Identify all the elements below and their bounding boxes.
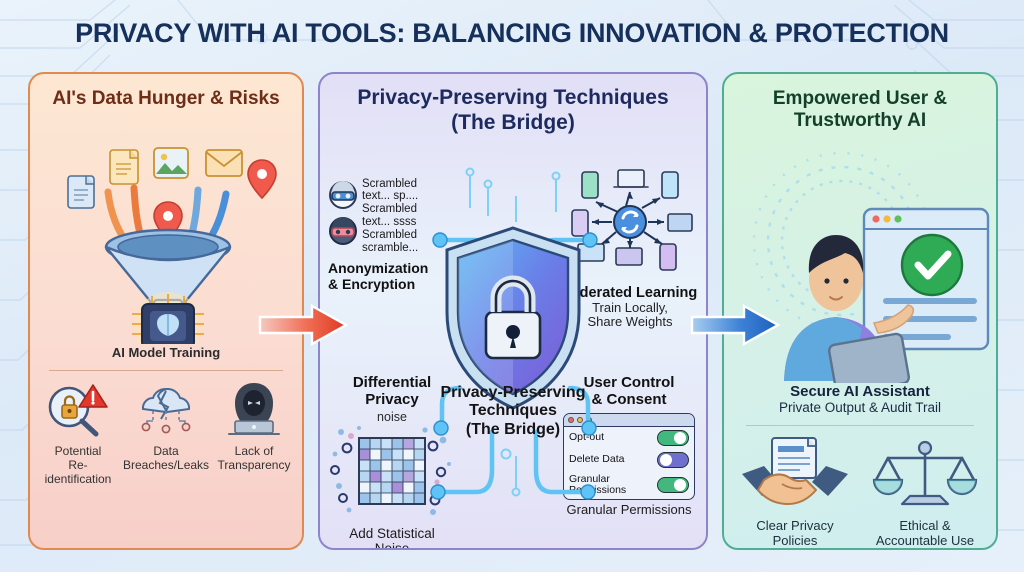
risk-item-data-breaches: Data Breaches/Leaks (123, 379, 209, 473)
bridge-center-label: Privacy-Preserving Techniques (The Bridg… (413, 384, 613, 440)
outcome-privacy-policies: Clear Privacy Policies & Compliance (736, 436, 854, 550)
risk-label-line1: Data (153, 444, 178, 458)
risk-label-line2: Re-identification (45, 458, 112, 486)
document-icon (68, 176, 94, 208)
risk-list: Potential Re-identification Data (30, 379, 302, 486)
assistant-title: Secure AI Assistant (724, 383, 996, 400)
circuit-trace-network (320, 136, 706, 546)
outcome-label-line2: Accountable Use (876, 533, 974, 548)
trust-divider (746, 425, 974, 426)
panel-privacy-techniques: Privacy-Preserving Techniques (The Bridg… (318, 72, 708, 550)
ai-chip-icon (132, 292, 204, 344)
risk-item-reidentification: Potential Re-identification (35, 379, 121, 486)
arrow-middle-to-right (690, 300, 782, 350)
document-icon (110, 150, 138, 184)
outcome-label-line1: Clear Privacy Policies (756, 518, 833, 548)
magnifier-lock-warning-icon (35, 379, 121, 437)
broken-cloud-icon (123, 379, 209, 437)
arrow-left-to-middle (258, 300, 350, 350)
risk-label-line1: Potential (55, 444, 102, 458)
assistant-subtitle: Private Output & Audit Trail (724, 400, 996, 416)
right-panel-title: Empowered User & Trustworthy AI (724, 88, 996, 133)
page-title: PRIVACY WITH AI TOOLS: BALANCING INNOVAT… (0, 18, 1024, 49)
risk-label-line1: Lack of (235, 444, 274, 458)
risk-item-lack-transparency: Lack of Transparency (211, 379, 297, 473)
outcome-ethical-use: Ethical & Accountable Use (866, 436, 984, 550)
scales-of-justice-icon (866, 436, 984, 510)
envelope-icon (206, 150, 242, 176)
risk-label-line2: Breaches/Leaks (123, 458, 209, 472)
green-check-icon (902, 235, 962, 295)
hacker-icon (211, 379, 297, 437)
image-icon (154, 148, 188, 178)
risk-label-line2: Transparency (218, 458, 291, 472)
location-pin-icon (248, 160, 276, 198)
trust-outcomes-list: Clear Privacy Policies & Compliance Ethi… (724, 436, 996, 550)
shield-padlock-icon (447, 228, 579, 408)
outcome-label-line2: & Compliance (755, 548, 836, 550)
handshake-document-icon (736, 436, 854, 510)
left-panel-title: AI's Data Hunger & Risks (30, 88, 302, 110)
risk-divider (49, 370, 283, 371)
middle-panel-title: Privacy-Preserving Techniques (The Bridg… (320, 86, 706, 136)
outcome-label-line1: Ethical & (899, 518, 950, 533)
